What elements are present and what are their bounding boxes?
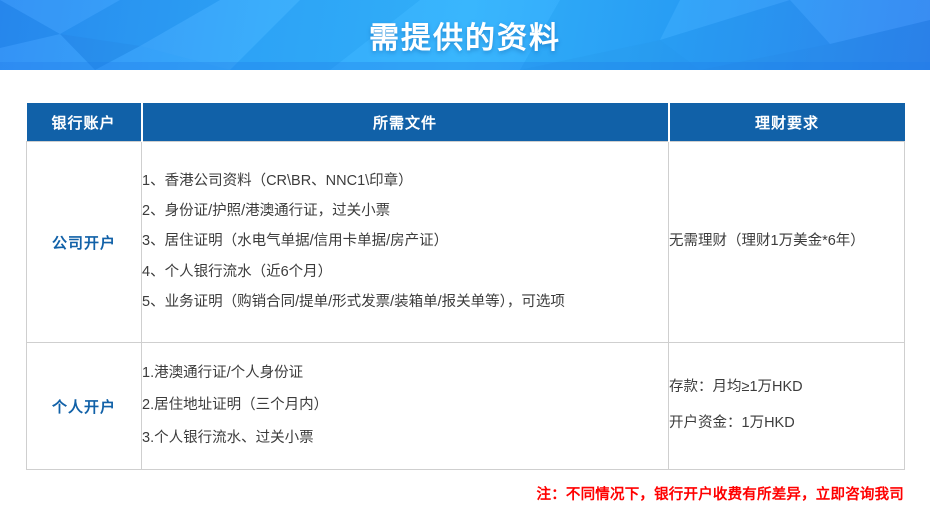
column-header-wealth-requirement: 理财要求 <box>669 103 905 142</box>
table-row: 个人开户 1.港澳通行证/个人身份证 2.居住地址证明（三个月内） 3.个人银行… <box>27 343 905 470</box>
account-type-company: 公司开户 <box>27 142 142 343</box>
document-item: 3、居住证明（水电气单据/信用卡单据/房产证） <box>142 231 668 252</box>
document-item: 1.港澳通行证/个人身份证 <box>142 363 668 384</box>
footnote-disclaimer: 注：不同情况下，银行开户收费有所差异，立即咨询我司 <box>537 483 905 504</box>
document-item: 5、业务证明（购销合同/提单/形式发票/装箱单/报关单等），可选项 <box>142 292 668 313</box>
document-item: 2、身份证/护照/港澳通行证，过关小票 <box>142 201 668 222</box>
document-item: 1、香港公司资料（CR\BR、NNC1\印章） <box>142 171 668 192</box>
document-item: 4、个人银行流水（近6个月） <box>142 262 668 283</box>
requirement-item: 开户资金：1万HKD <box>669 413 904 435</box>
requirement-cell-company: 无需理财（理财1万美金*6年） <box>669 142 905 343</box>
requirement-item: 存款：月均≥1万HKD <box>669 377 904 399</box>
document-item: 3.个人银行流水、过关小票 <box>142 428 668 449</box>
requirements-table-container: 银行账户 所需文件 理财要求 公司开户 1、香港公司资料（CR\BR、NNC1\… <box>26 103 904 470</box>
page-banner: 需提供的资料 <box>0 0 930 70</box>
document-item: 2.居住地址证明（三个月内） <box>142 395 668 416</box>
documents-cell-personal: 1.港澳通行证/个人身份证 2.居住地址证明（三个月内） 3.个人银行流水、过关… <box>142 343 669 470</box>
account-type-personal: 个人开户 <box>27 343 142 470</box>
column-header-bank-account: 银行账户 <box>27 103 142 142</box>
requirement-cell-personal: 存款：月均≥1万HKD 开户资金：1万HKD <box>669 343 905 470</box>
requirements-table: 银行账户 所需文件 理财要求 公司开户 1、香港公司资料（CR\BR、NNC1\… <box>26 103 905 470</box>
table-header-row: 银行账户 所需文件 理财要求 <box>27 103 905 142</box>
column-header-required-documents: 所需文件 <box>142 103 669 142</box>
documents-cell-company: 1、香港公司资料（CR\BR、NNC1\印章） 2、身份证/护照/港澳通行证，过… <box>142 142 669 343</box>
table-row: 公司开户 1、香港公司资料（CR\BR、NNC1\印章） 2、身份证/护照/港澳… <box>27 142 905 343</box>
page-title: 需提供的资料 <box>0 0 930 70</box>
requirement-item: 无需理财（理财1万美金*6年） <box>669 231 904 253</box>
